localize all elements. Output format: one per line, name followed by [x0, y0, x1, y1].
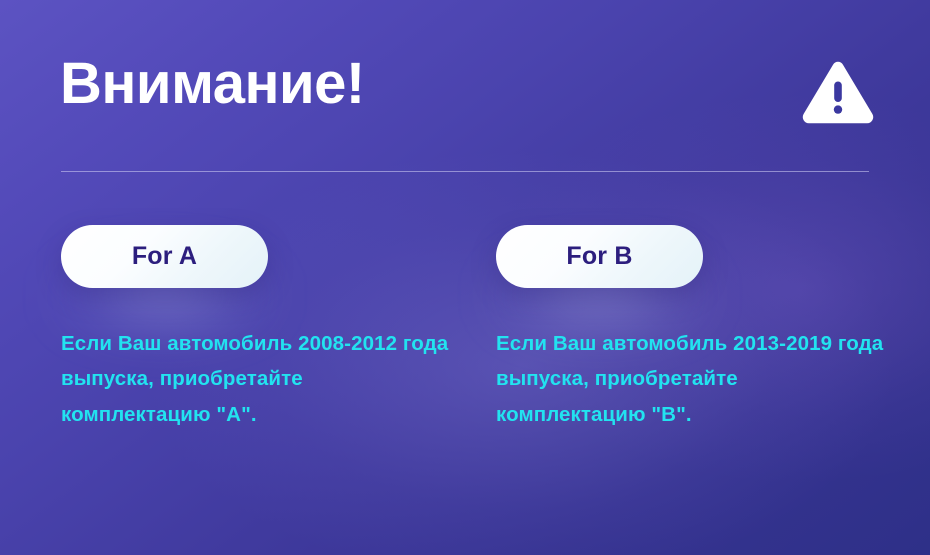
for-b-button-label: For B [566, 242, 632, 271]
attention-banner: Внимание! For A Если Ваш автомобиль 2008… [0, 0, 930, 555]
warning-triangle-icon [801, 60, 875, 126]
header-divider [61, 171, 869, 172]
for-b-button[interactable]: For B [496, 225, 703, 288]
for-a-button[interactable]: For A [61, 225, 268, 288]
page-title: Внимание! [60, 54, 365, 115]
option-a-description: Если Ваш автомобиль 2008-2012 года выпус… [61, 288, 451, 432]
option-b-description: Если Ваш автомобиль 2013-2019 года выпус… [496, 288, 886, 432]
option-column-b: For B Если Ваш автомобиль 2013-2019 года… [496, 225, 896, 432]
option-column-a: For A Если Ваш автомобиль 2008-2012 года… [61, 225, 461, 432]
for-a-button-label: For A [132, 242, 197, 271]
